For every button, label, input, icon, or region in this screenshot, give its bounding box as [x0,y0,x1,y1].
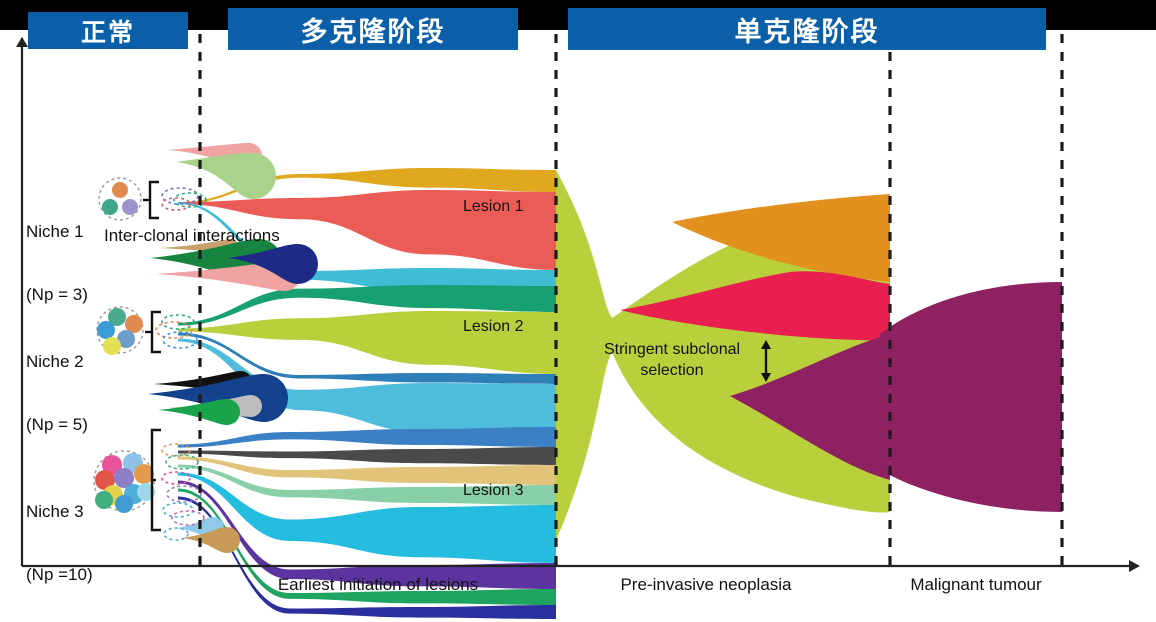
niche-1-dot-3 [122,199,138,215]
niche-3-label: Niche 3 (Np =10) [26,458,93,622]
stage-header-polyclonal-label: 多克隆阶段 [301,10,446,49]
x-axis-label-malignant: Malignant tumour [816,575,1136,595]
niche-2-np: (Np = 5) [26,414,88,435]
x-axis-label-earliest-initiation: Earliest initiation of lesions [218,575,538,595]
niche-3-name: Niche 3 [26,501,93,522]
inter-clonal-interactions-label: Inter-clonal interactions [104,226,280,246]
stage-header-monoclonal: 单克隆阶段 [568,8,1046,50]
lesion-2-label: Lesion 2 [463,318,524,336]
stage-header-polyclonal: 多克隆阶段 [228,8,518,50]
lesion-3-label: Lesion 3 [463,482,524,500]
niche-1-dot-1 [112,182,128,198]
stage-header-normal: 正常 [28,12,188,49]
stage-header-normal-label: 正常 [81,13,135,49]
niche-2-dot-5 [103,337,121,355]
niche-1-name: Niche 1 [26,221,88,242]
niche-3-np: (Np =10) [26,564,93,585]
diagram-canvas [0,0,1156,622]
niche-2-label: Niche 2 (Np = 5) [26,308,88,478]
figure-root: 正常 多克隆阶段 单克隆阶段 Niche 1 (Np = 3) Niche 2 … [0,0,1156,622]
niche-2-glyph [97,307,161,355]
niche-2-dot-3 [97,321,115,339]
niche-3-dot-10 [115,495,133,513]
stage-header-monoclonal-label: 单克隆阶段 [735,10,880,49]
niche-3-dot-8 [95,491,113,509]
niche-2-name: Niche 2 [26,351,88,372]
niche-1-glyph [99,178,159,220]
selection-line-2: selection [562,361,782,382]
niche-1-dot-2 [102,199,118,215]
lesion-1-label: Lesion 1 [463,198,524,216]
niche-1-np: (Np = 3) [26,284,88,305]
stringent-subclonal-selection-label: Stringent subclonal selection [562,340,782,382]
selection-line-1: Stringent subclonal [562,340,782,361]
